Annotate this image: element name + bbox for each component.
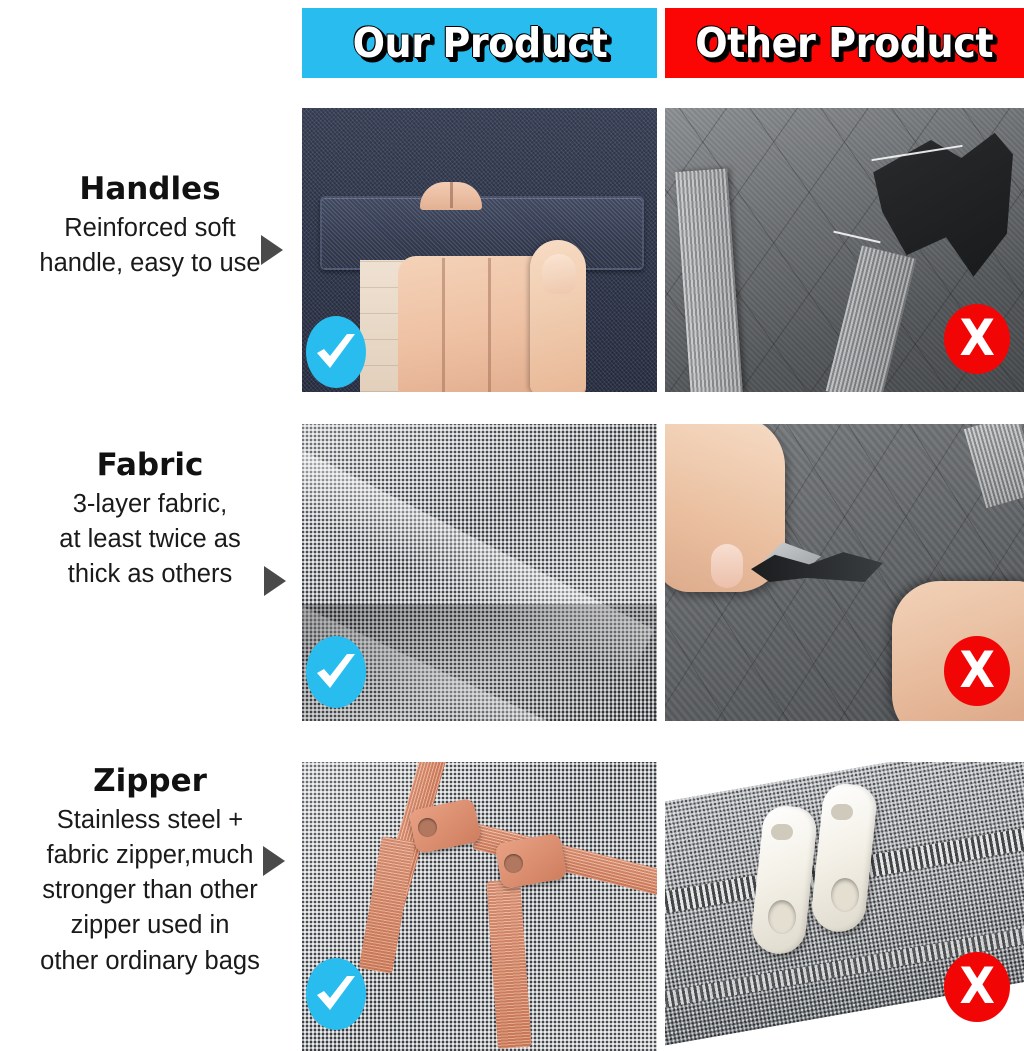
caption-fabric: Fabric 3-layer fabric, at least twice as… bbox=[0, 446, 300, 592]
caption-zipper: Zipper Stainless steel + fabric zipper,m… bbox=[0, 762, 300, 979]
feature-description-handles: Reinforced soft handle, easy to use bbox=[0, 211, 300, 281]
pointer-triangle-icon bbox=[261, 235, 283, 265]
description-line: other ordinary bags bbox=[0, 944, 300, 979]
feature-title-zipper: Zipper bbox=[0, 762, 300, 801]
comparison-row-fabric: Fabric 3-layer fabric, at least twice as… bbox=[0, 424, 1024, 722]
comparison-row-handles: Handles Reinforced soft handle, easy to … bbox=[0, 100, 1024, 392]
zipper-pull-tab-shape bbox=[359, 836, 416, 974]
description-line: Stainless steel + bbox=[0, 803, 300, 838]
description-line: fabric zipper,much bbox=[0, 838, 300, 873]
pointer-triangle-icon bbox=[263, 846, 285, 876]
our-product-banner: Our Product bbox=[302, 8, 657, 78]
zipper-pull-notch bbox=[771, 824, 793, 840]
zipper-pull-tab-shape bbox=[486, 879, 532, 1049]
other-product-label: Other Product bbox=[696, 23, 994, 64]
comparison-row-zipper: Zipper Stainless steel + fabric zipper,m… bbox=[0, 762, 1024, 1051]
zipper-pull-notch bbox=[831, 804, 853, 820]
thumbnail-shape bbox=[542, 254, 576, 294]
description-line: handle, easy to use bbox=[0, 246, 300, 281]
pointer-triangle-icon bbox=[264, 566, 286, 596]
other-product-photo-zipper: X bbox=[665, 762, 1024, 1051]
check-badge bbox=[306, 316, 366, 388]
x-mark-icon: X bbox=[959, 645, 994, 695]
description-line: 3-layer fabric, bbox=[0, 487, 300, 522]
x-badge: X bbox=[944, 304, 1010, 374]
caption-handles: Handles Reinforced soft handle, easy to … bbox=[0, 170, 300, 281]
zipper-pull-hole bbox=[831, 878, 859, 912]
x-mark-icon: X bbox=[959, 313, 994, 363]
check-badge bbox=[306, 958, 366, 1030]
our-product-photo-fabric bbox=[302, 424, 657, 721]
x-badge: X bbox=[944, 636, 1010, 706]
feature-description-fabric: 3-layer fabric, at least twice as thick … bbox=[0, 487, 300, 593]
feature-title-fabric: Fabric bbox=[0, 446, 300, 485]
check-mark-icon bbox=[314, 332, 358, 372]
check-mark-icon bbox=[314, 652, 358, 692]
other-product-banner: Other Product bbox=[665, 8, 1024, 78]
other-product-photo-fabric: X bbox=[665, 424, 1024, 721]
check-mark-icon bbox=[314, 974, 358, 1014]
finger-line-shape bbox=[442, 258, 445, 392]
zipper-slider-hole bbox=[504, 854, 523, 873]
x-badge: X bbox=[944, 952, 1010, 1022]
fingernail-shape bbox=[711, 544, 743, 588]
description-line: Reinforced soft bbox=[0, 211, 300, 246]
finger-line-shape bbox=[488, 258, 491, 392]
description-line: zipper used in bbox=[0, 908, 300, 943]
zipper-pull-hole bbox=[768, 900, 796, 934]
description-line: stronger than other bbox=[0, 873, 300, 908]
finger-divider-shape bbox=[450, 182, 453, 208]
description-line: thick as others bbox=[0, 557, 300, 592]
check-badge bbox=[306, 636, 366, 708]
other-product-photo-handles: X bbox=[665, 108, 1024, 392]
feature-description-zipper: Stainless steel + fabric zipper,much str… bbox=[0, 803, 300, 979]
feature-title-handles: Handles bbox=[0, 170, 300, 209]
our-product-photo-handles bbox=[302, 108, 657, 392]
our-product-photo-zipper bbox=[302, 762, 657, 1051]
zipper-slider-hole bbox=[418, 818, 437, 837]
x-mark-icon: X bbox=[959, 961, 994, 1011]
our-product-label: Our Product bbox=[352, 23, 607, 64]
description-line: at least twice as bbox=[0, 522, 300, 557]
